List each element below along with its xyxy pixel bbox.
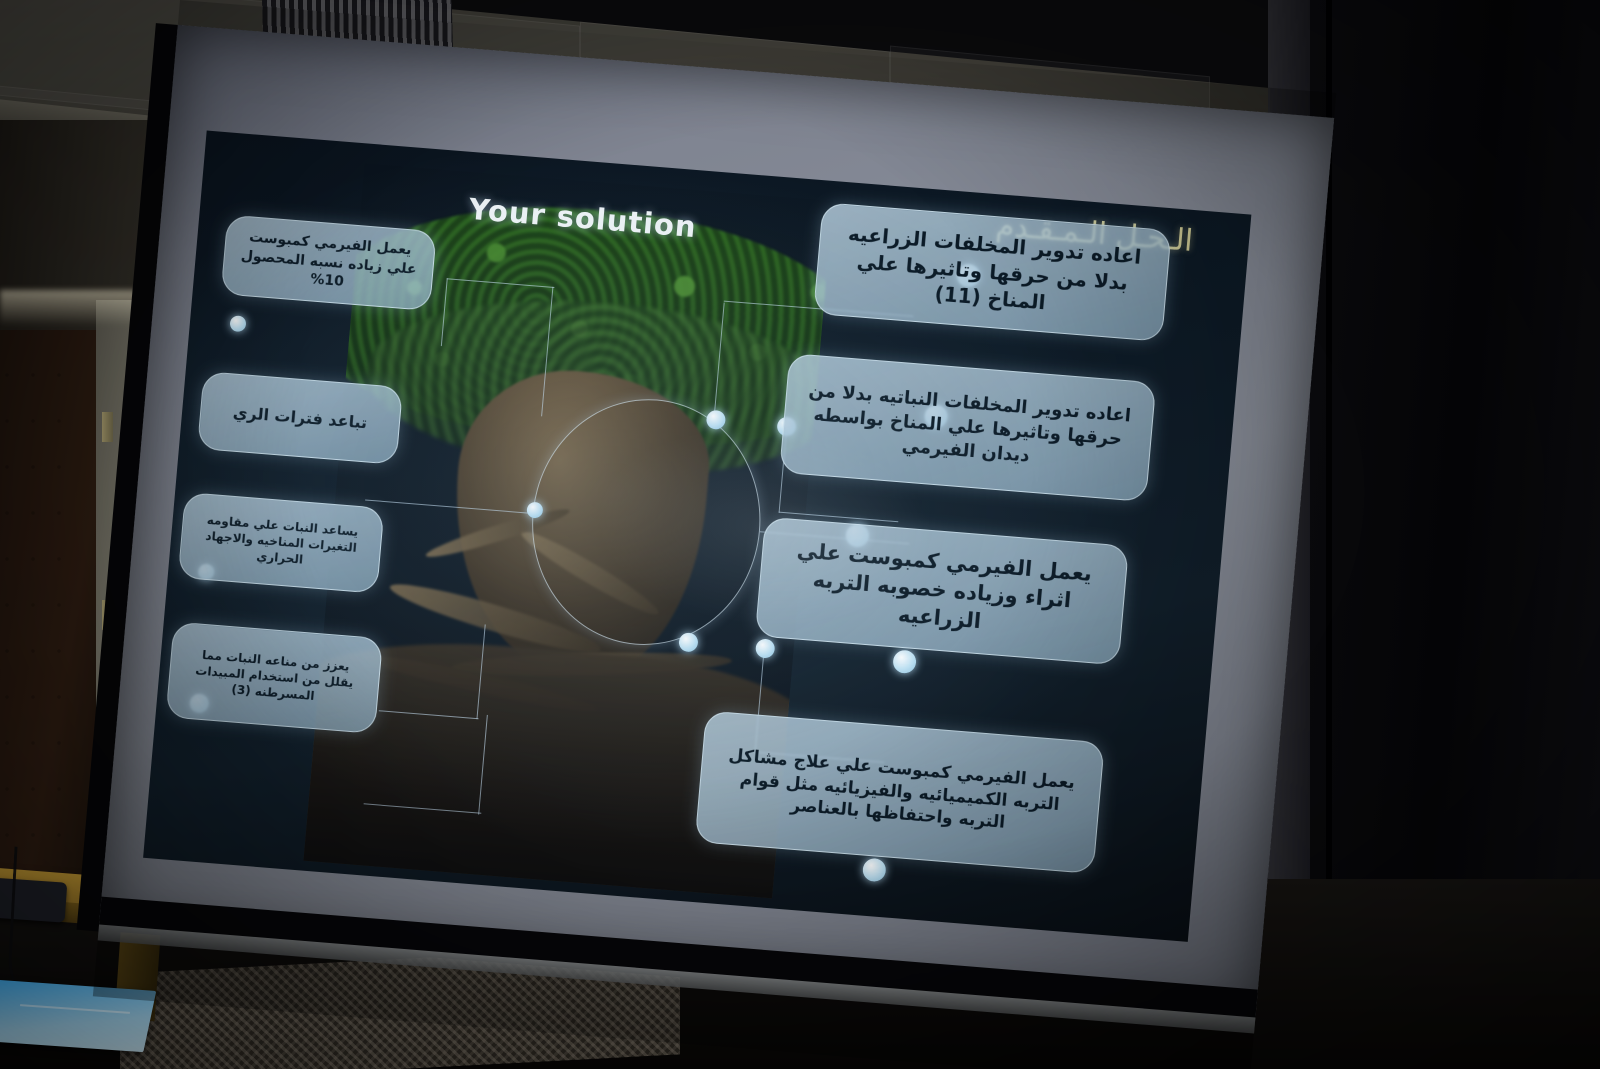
callout-text: يعمل الفيرمي كمبوست علي اثراء وزياده خصو… [771, 536, 1112, 646]
callout-box-irrigation-intervals[interactable]: تباعد فترات الري [197, 371, 403, 465]
callout-text: تباعد فترات الري [214, 401, 385, 436]
callout-box-increase-yield[interactable]: يعمل الفيرمي كمبوست علي زياده نسبه المحص… [221, 214, 437, 311]
callout-text: اعاده تدوير المخلفات النباتيه بدلا من حر… [796, 379, 1139, 477]
connector-dot [229, 315, 246, 332]
callout-text: يعمل الفيرمي كمبوست علي زياده نسبه المحص… [237, 228, 421, 298]
door-hinge [102, 412, 113, 442]
door-panel [0, 352, 72, 882]
callout-box-enrich-soil-fertility[interactable]: يعمل الفيرمي كمبوست علي اثراء وزياده خصو… [755, 517, 1129, 666]
connector-dot [862, 858, 887, 883]
connector-dot [892, 649, 917, 674]
callout-box-boost-immunity-less-pesticide[interactable]: يعزز من مناعه النبات مما يقلل من استخدام… [165, 621, 383, 733]
callout-text: اعاده تدوير المخلفات الزراعيه بدلا من حر… [829, 220, 1155, 325]
projected-slide: الـحـل الـمـقـدم Your solution [143, 131, 1251, 942]
callout-text: يعمل الفيرمي كمبوست علي علاج مشاكل الترب… [712, 744, 1087, 841]
callout-box-recycle-plant-waste-vermi[interactable]: اعاده تدوير المخلفات النباتيه بدلا من حر… [779, 353, 1156, 502]
projection-screen: الـحـل الـمـقـدم Your solution [93, 0, 1336, 1069]
callout-text: يعزز من مناعه النبات مما يقلل من استخدام… [183, 647, 367, 709]
callout-text: يساعد النبات علي مقاومه التغيرات المناخي… [194, 512, 368, 573]
callout-box-climate-heat-resistance[interactable]: يساعد النبات علي مقاومه التغيرات المناخي… [178, 492, 385, 594]
conference-room: الـحـل الـمـقـدم Your solution [0, 0, 1600, 1069]
